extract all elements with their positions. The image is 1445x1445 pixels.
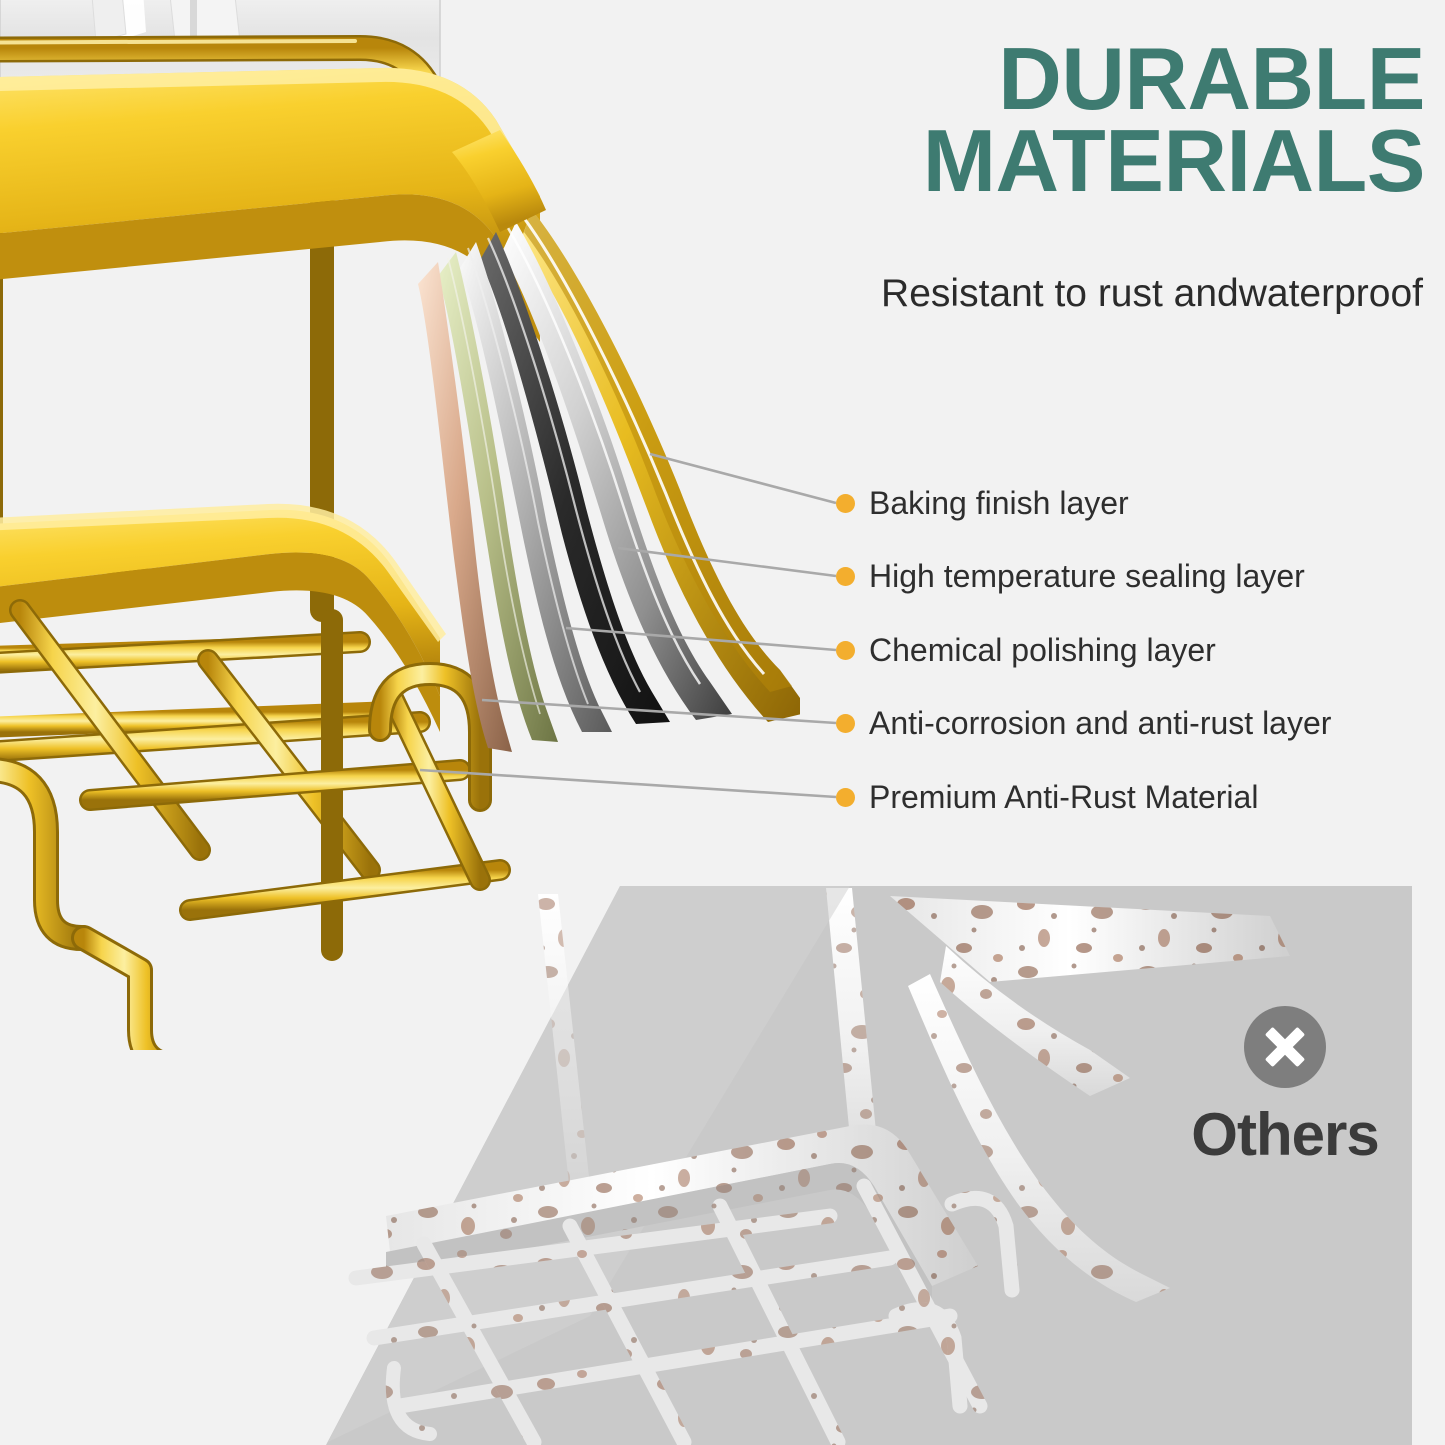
callout-dot-icon xyxy=(836,714,855,733)
others-comparison-panel: Others xyxy=(290,886,1412,1445)
callout-dot-icon xyxy=(836,788,855,807)
infographic-canvas: Others DURABLE MATERIALS Resistant to ru… xyxy=(0,0,1445,1445)
callout-item-1: Baking finish layer xyxy=(836,483,1129,523)
others-label-group: Others xyxy=(1170,1006,1400,1169)
callout-item-3: Chemical polishing layer xyxy=(836,630,1216,670)
callout-label: Premium Anti-Rust Material xyxy=(869,781,1258,813)
page-subtitle: Resistant to rust andwaterproof xyxy=(623,272,1423,316)
x-icon xyxy=(1244,1006,1326,1088)
callout-label: Anti-corrosion and anti-rust layer xyxy=(869,707,1331,739)
title-line-1: DURABLE xyxy=(705,38,1425,120)
page-title: DURABLE MATERIALS xyxy=(705,38,1425,202)
title-line-2: MATERIALS xyxy=(705,120,1425,202)
callout-label: Chemical polishing layer xyxy=(869,634,1216,666)
callout-dot-icon xyxy=(836,494,855,513)
callout-dot-icon xyxy=(836,567,855,586)
callout-label: High temperature sealing layer xyxy=(869,560,1305,592)
others-title: Others xyxy=(1170,1100,1400,1169)
callout-dot-icon xyxy=(836,641,855,660)
callout-item-4: Anti-corrosion and anti-rust layer xyxy=(836,703,1331,743)
callout-label: Baking finish layer xyxy=(869,487,1129,519)
callout-item-2: High temperature sealing layer xyxy=(836,556,1305,596)
callout-item-5: Premium Anti-Rust Material xyxy=(836,777,1258,817)
